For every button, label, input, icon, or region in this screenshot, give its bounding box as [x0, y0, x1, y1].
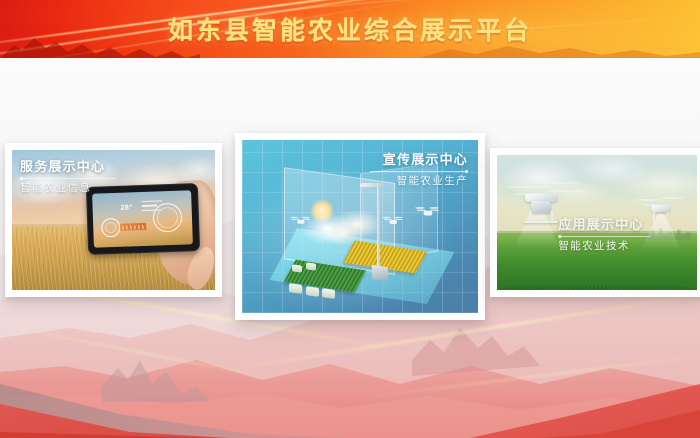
card-service-subtitle: 智能农业信息: [20, 182, 116, 196]
hud-target-icon: [152, 202, 182, 232]
rule-dot: [20, 177, 23, 180]
hud-readout-line: [141, 200, 163, 202]
card-service-image: 28° 服务展示中心 智能农业信息: [12, 150, 215, 290]
card-promotion-subtitle: 智能农业生产: [370, 175, 468, 189]
card-application-display-center[interactable]: 应用展示中心 智能农业技术: [490, 148, 700, 297]
rule-dot: [558, 235, 561, 238]
rule-dot: [465, 170, 468, 173]
card-service-caption: 服务展示中心 智能农业信息: [20, 159, 116, 196]
card-title-rule: [558, 236, 650, 237]
hud-ring-icon: [101, 218, 121, 238]
card-application-caption: 应用展示中心 智能农业技术: [558, 217, 650, 254]
lamp-base: [372, 265, 388, 281]
card-promotion-caption: 宣传展示中心 智能农业生产: [370, 152, 468, 189]
hud-progress-bar: [120, 223, 146, 231]
hay-roll: [322, 288, 335, 299]
page-title: 如东县智能农业综合展示平台: [0, 0, 700, 58]
hud-temperature-value: 28°: [121, 205, 133, 212]
hud-readout-line: [141, 205, 157, 207]
card-promotion-display-center[interactable]: 宣传展示中心 智能农业生产: [235, 133, 485, 320]
card-service-title: 服务展示中心: [20, 159, 116, 175]
card-title-rule: [370, 171, 468, 172]
hay-roll: [306, 262, 316, 270]
hay-roll: [289, 283, 302, 294]
card-application-image: 应用展示中心 智能农业技术: [497, 155, 697, 290]
card-application-title: 应用展示中心: [558, 217, 650, 233]
hay-roll: [306, 286, 319, 297]
card-promotion-image: 宣传展示中心 智能农业生产: [242, 140, 478, 313]
hay-roll: [292, 264, 302, 272]
presentation-stage: 如东县智能农业综合展示平台: [0, 0, 700, 438]
card-application-subtitle: 智能农业技术: [558, 240, 650, 254]
lamp-pole: [377, 183, 381, 270]
phone-screen: 28°: [93, 190, 193, 247]
page-header-banner: 如东县智能农业综合展示平台: [0, 0, 700, 58]
card-title-rule: [20, 178, 116, 179]
card-promotion-title: 宣传展示中心: [370, 152, 468, 168]
card-service-display-center[interactable]: 28° 服务展示中心 智能农业信息: [5, 143, 222, 297]
